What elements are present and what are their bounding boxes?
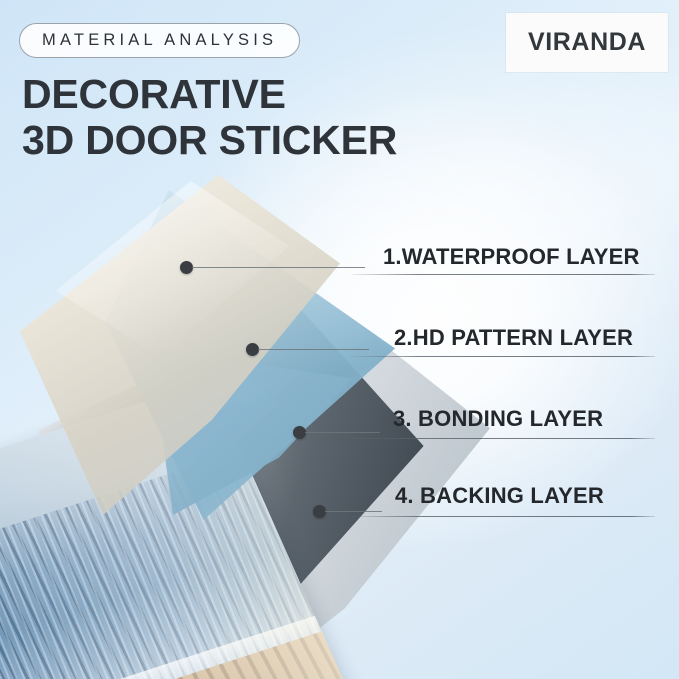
callout-label-2: 2.HD PATTERN LAYER [394,325,633,351]
callout-label-3: 3. BONDING LAYER [393,406,603,432]
callout-rule-3 [352,438,655,439]
eyebrow-badge: MATERIAL ANALYSIS [19,23,300,58]
callout-rule-2 [352,356,655,357]
brand-name: VIRANDA [528,28,646,57]
leader-line-1 [192,267,365,268]
leader-line-3 [305,432,380,433]
callout-label-1: 1.WATERPROOF LAYER [383,244,640,270]
callout-rule-1 [352,274,655,275]
page-title-line-2: 3D DOOR STICKER [22,120,397,161]
callout-label-4: 4. BACKING LAYER [395,483,604,509]
leader-line-2 [258,349,369,350]
infographic-canvas: MATERIAL ANALYSIS DECORATIVE 3D DOOR STI… [0,0,679,679]
callout-rule-4 [352,516,655,517]
leader-line-4 [325,511,382,512]
brand-logo-box: VIRANDA [506,13,668,72]
page-title-line-1: DECORATIVE [22,74,286,115]
